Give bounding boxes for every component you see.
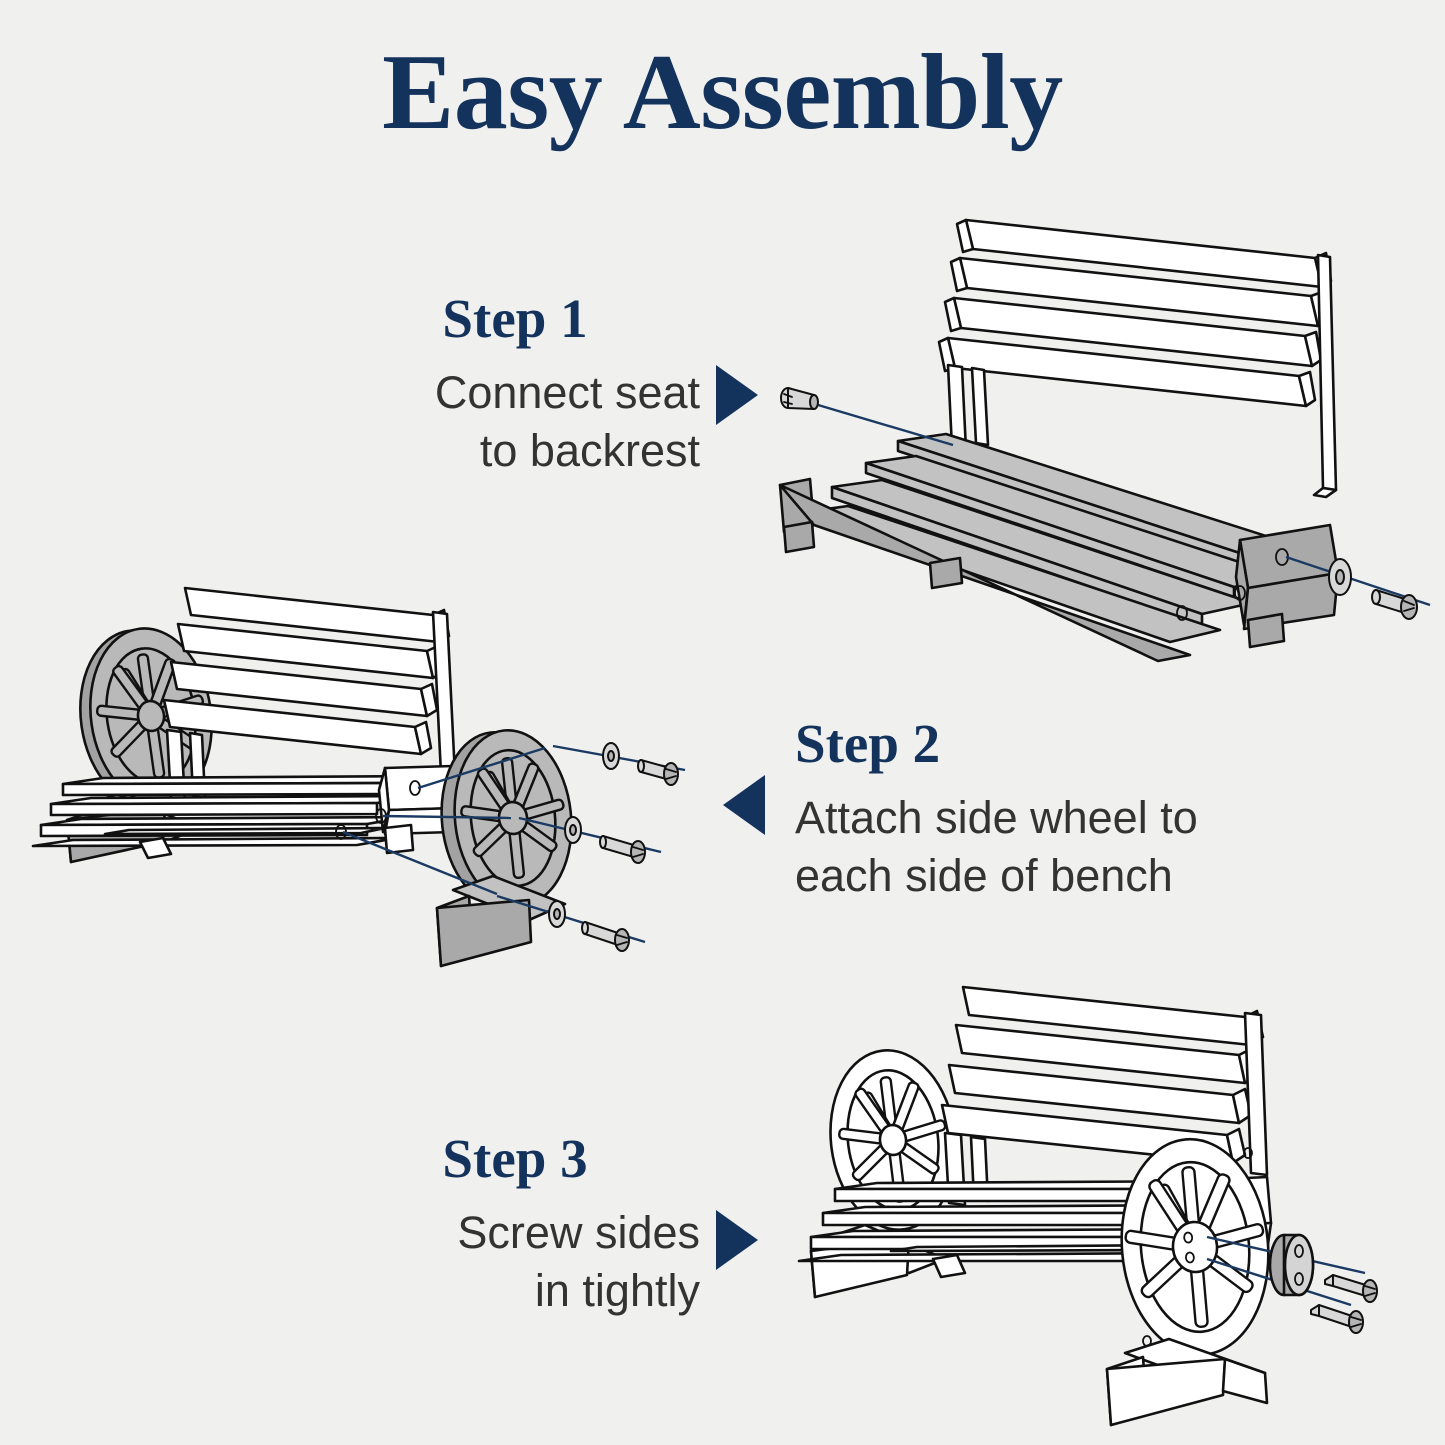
infographic-canvas: Easy Assembly [0,0,1445,1445]
wheel-hardware-top [553,743,685,785]
step-2-heading: Step 2 [795,715,1225,773]
step-1-body: Connect seat to backrest [330,364,700,481]
step-2-illustration [45,570,725,1020]
step-3-text-block: Step 3 Screw sides in tightly [330,1130,700,1321]
step-2-arrow-left-icon [723,775,765,835]
step-3-arrow-right-icon [716,1210,758,1270]
step-3-body: Screw sides in tightly [330,1204,700,1321]
step-1-illustration [770,195,1430,625]
step-3-heading: Step 3 [330,1130,700,1188]
step-3-illustration [795,975,1425,1425]
step-2-text-block: Step 2 Attach side wheel to each side of… [795,715,1225,906]
bolt-backrest [781,388,953,445]
page-title: Easy Assembly [0,34,1445,153]
step-1-heading: Step 1 [330,290,700,348]
step-1-arrow-right-icon [716,365,758,425]
step-2-body: Attach side wheel to each side of bench [795,789,1225,906]
step-1-text-block: Step 1 Connect seat to backrest [330,290,700,481]
seat-group [780,434,1338,661]
